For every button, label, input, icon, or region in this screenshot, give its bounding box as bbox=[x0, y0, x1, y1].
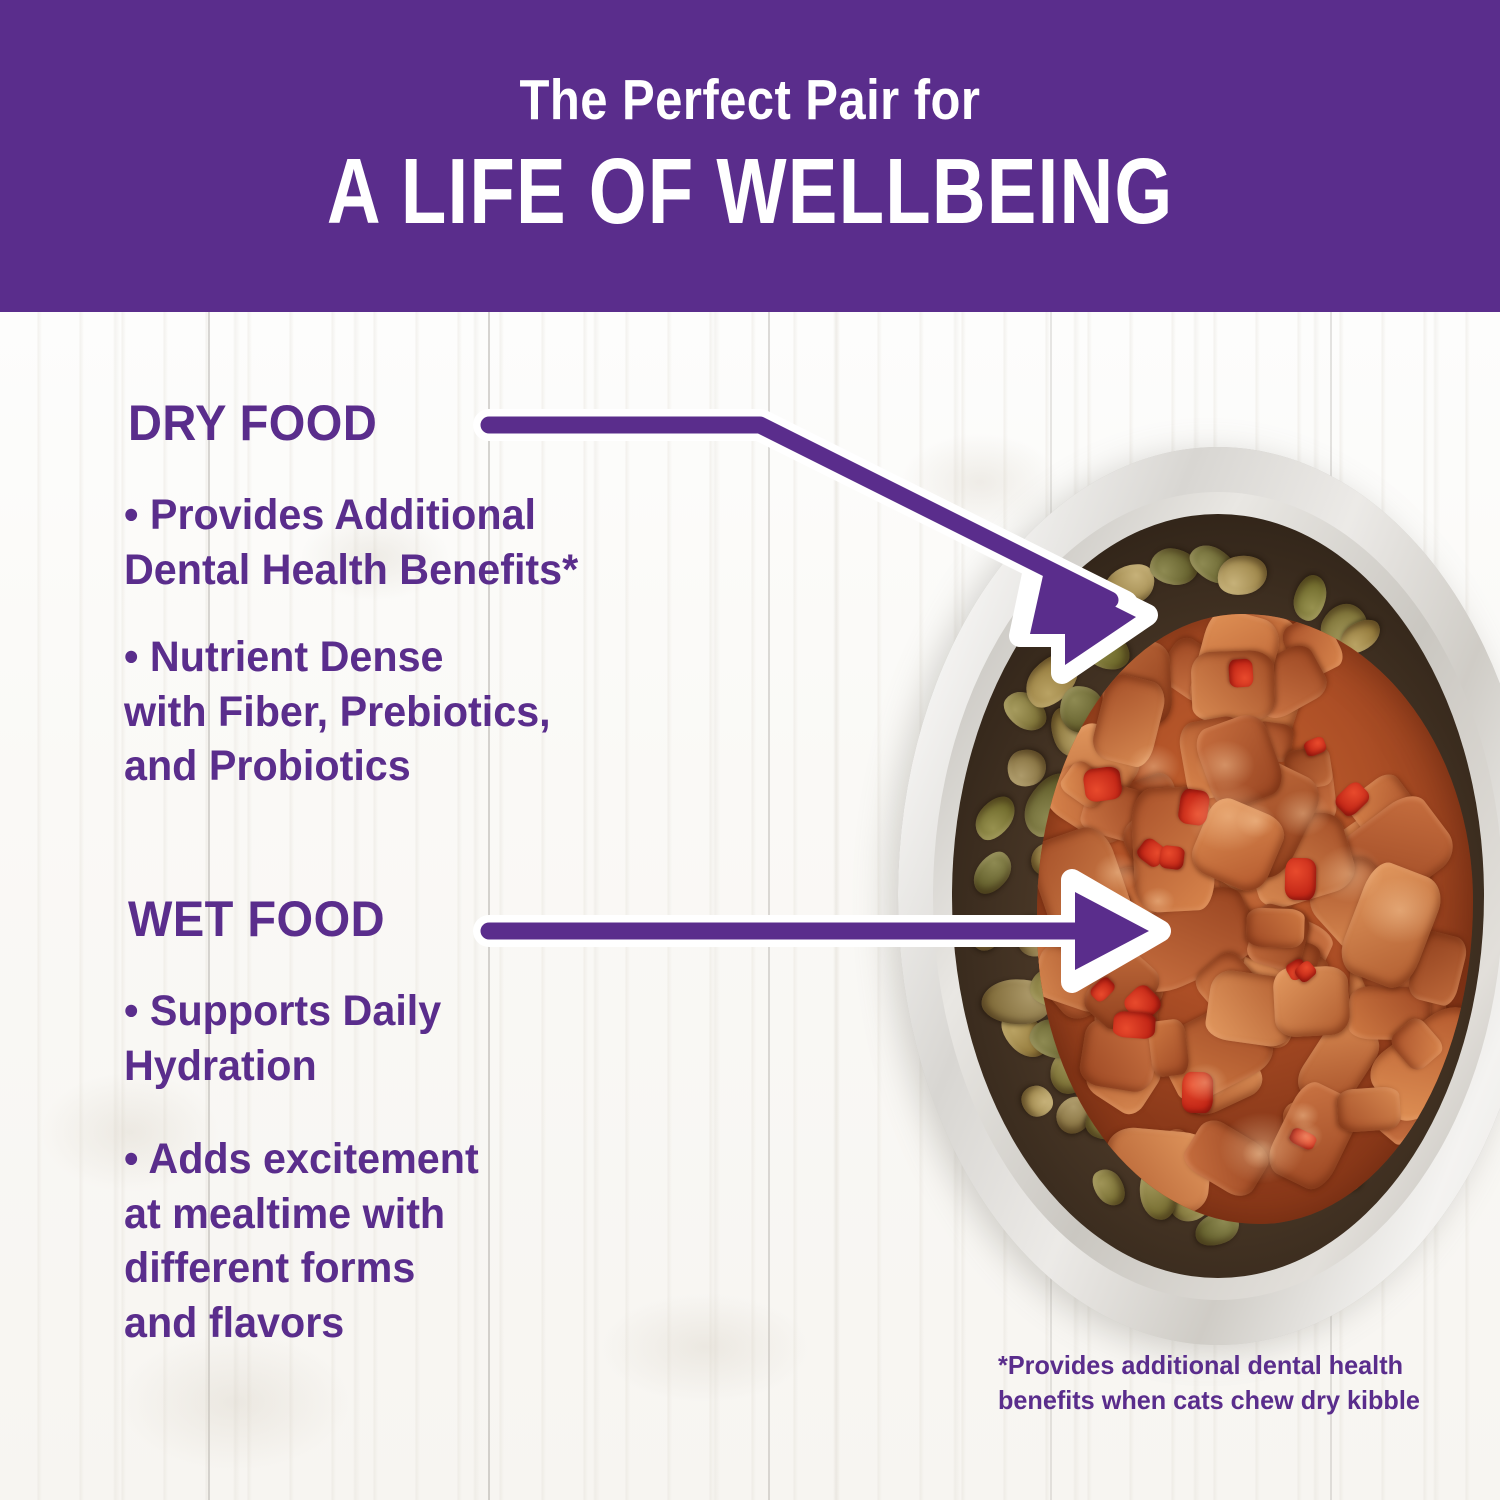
kibble-piece bbox=[1015, 1079, 1059, 1122]
bullet-wet-1-line-2: Hydration bbox=[124, 1042, 317, 1090]
kibble-piece bbox=[968, 789, 1023, 847]
bullet-wet-2: • Adds excitement at mealtime with diffe… bbox=[124, 1132, 796, 1350]
bullet-wet-2-line-4: and flavors bbox=[124, 1299, 344, 1347]
footnote: *Provides additional dental health benef… bbox=[998, 1348, 1454, 1418]
wet-food-chunk bbox=[1246, 907, 1305, 948]
infographic-page: The Perfect Pair for A LIFE OF WELLBEING bbox=[0, 0, 1500, 1500]
wet-food-chunk bbox=[1335, 1086, 1401, 1134]
tomato-piece bbox=[1176, 789, 1210, 827]
kibble-piece bbox=[966, 846, 1018, 901]
bowl bbox=[898, 447, 1500, 1345]
bullet-dry-2-line-3: and Probiotics bbox=[124, 742, 411, 790]
bowl-interior bbox=[952, 514, 1483, 1277]
tomato-piece bbox=[1113, 1010, 1157, 1039]
bullet-dry-2-line-1: • Nutrient Dense bbox=[124, 633, 444, 681]
bullet-wet-1: • Supports Daily Hydration bbox=[124, 984, 796, 1093]
kibble-piece bbox=[965, 913, 1007, 956]
tomato-piece bbox=[1083, 766, 1124, 804]
bullet-dry-1-line-2: Dental Health Benefits* bbox=[124, 546, 578, 594]
pet-food-bowl-photo bbox=[898, 447, 1500, 1347]
header-title: A LIFE OF WELLBEING bbox=[327, 143, 1174, 241]
header-subtitle: The Perfect Pair for bbox=[520, 71, 981, 131]
footnote-line-1: *Provides additional dental health bbox=[998, 1350, 1403, 1380]
tomato-piece bbox=[1181, 1072, 1213, 1113]
section-title-wet-food: WET FOOD bbox=[128, 890, 385, 948]
bullet-wet-1-line-1: • Supports Daily bbox=[124, 987, 441, 1035]
bullet-wet-2-line-3: different forms bbox=[124, 1244, 415, 1292]
bullet-dry-2: • Nutrient Dense with Fiber, Prebiotics,… bbox=[124, 630, 796, 794]
tomato-piece bbox=[1228, 659, 1254, 689]
section-title-dry-food: DRY FOOD bbox=[128, 394, 377, 452]
tomato-piece bbox=[1285, 858, 1317, 901]
tomato-piece bbox=[1159, 845, 1186, 870]
bullet-wet-2-line-2: at mealtime with bbox=[124, 1190, 445, 1238]
bullet-dry-1: • Provides Additional Dental Health Bene… bbox=[124, 488, 796, 597]
benefits-copy-column: DRY FOOD • Provides Additional Dental He… bbox=[0, 312, 860, 1500]
wet-food-portion bbox=[1037, 614, 1473, 1225]
bullet-wet-2-line-1: • Adds excitement bbox=[124, 1135, 479, 1183]
bullet-dry-1-line-1: • Provides Additional bbox=[124, 491, 536, 539]
header-banner: The Perfect Pair for A LIFE OF WELLBEING bbox=[0, 0, 1500, 312]
bullet-dry-2-line-2: with Fiber, Prebiotics, bbox=[124, 688, 551, 736]
footnote-line-2: benefits when cats chew dry kibble bbox=[998, 1385, 1420, 1415]
